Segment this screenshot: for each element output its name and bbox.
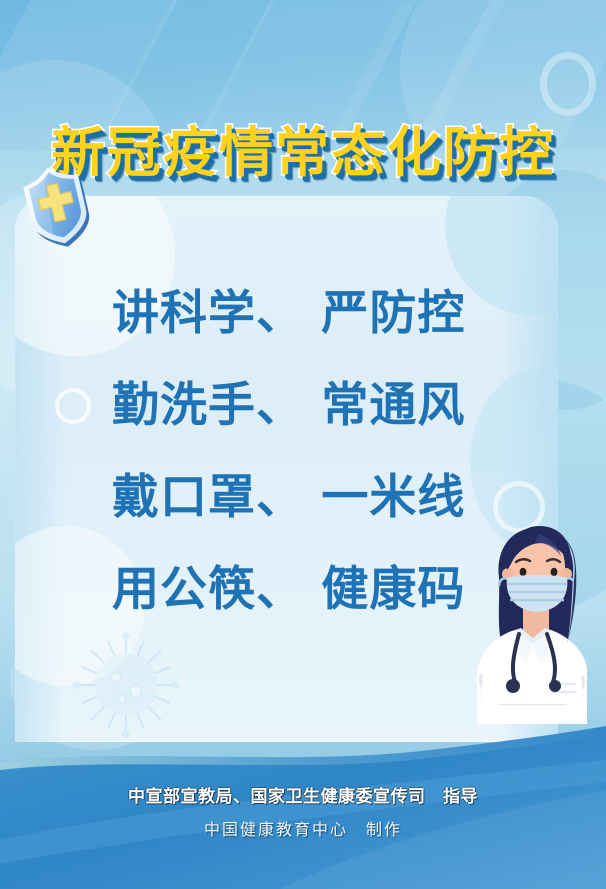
slogan-line: 勤洗手、 常通风 [0, 354, 606, 446]
decorative-ring [540, 52, 596, 116]
doctor-illustration [455, 512, 606, 732]
doctor-coat [477, 630, 587, 724]
poster-canvas: 新冠疫情常态化防控 讲科学、 严防控 勤洗手、 常通风 戴口罩、 一米线 用公 [0, 0, 606, 889]
shield-with-cross-icon [14, 158, 100, 250]
footer-wave [0, 720, 606, 889]
slogan-line: 讲科学、 严防控 [0, 262, 606, 354]
